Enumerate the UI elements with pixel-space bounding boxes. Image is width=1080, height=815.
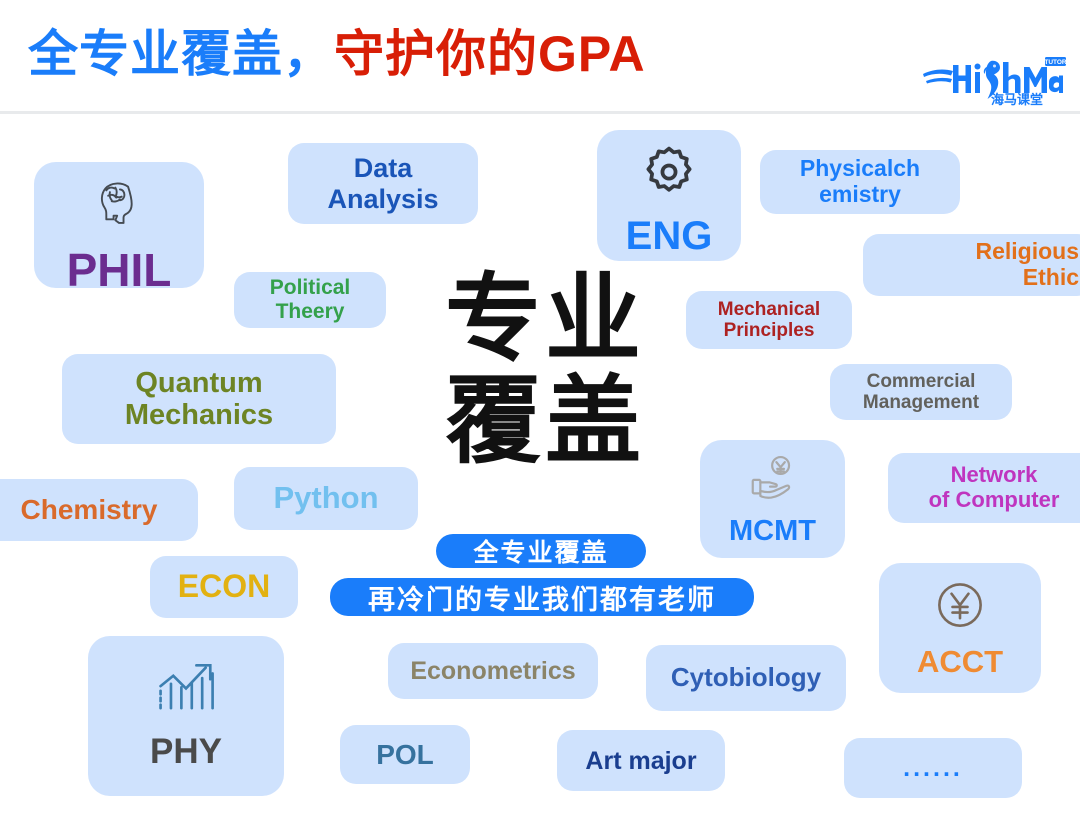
page-title: 全专业覆盖，守护你的GPA (28, 16, 646, 92)
subject-pill-label: ...... (903, 754, 963, 782)
brain-head-icon (90, 174, 148, 243)
page-title-primary: 全专业覆盖， (28, 26, 334, 82)
slide-header: 全专业覆盖，守护你的GPA (0, 0, 1080, 113)
subject-pill-phy[interactable]: PHY (88, 636, 284, 796)
subject-pill-label: POL (376, 739, 434, 770)
subject-pill-cytobiology[interactable]: Cytobiology (646, 645, 846, 711)
page-title-accent: 守护你的GPA (334, 26, 646, 82)
hand-coin-icon (746, 452, 800, 513)
subject-pill-eng[interactable]: ENG (597, 130, 741, 261)
subject-pill-label: Python (273, 481, 378, 516)
subject-pill-pol[interactable]: POL (340, 725, 470, 784)
subject-pill-religious-ethic[interactable]: Religious Ethic (863, 234, 1080, 296)
subject-pill-more[interactable]: ...... (844, 738, 1022, 798)
logo-badge-text: TUTOR (1044, 59, 1066, 66)
subject-pill-mechanical-principles[interactable]: Mechanical Principles (686, 291, 852, 349)
header-divider (0, 111, 1080, 114)
subject-pill-label: Political Theery (270, 276, 351, 323)
subject-pill-chemistry[interactable]: Chemistry (0, 479, 198, 541)
growth-chart-icon (149, 648, 223, 730)
center-headline: 专业 覆盖 (410, 268, 680, 472)
subject-pill-econometrics[interactable]: Econometrics (388, 643, 598, 699)
subject-pill-label: Data Analysis (327, 153, 438, 213)
subject-pill-political-theery[interactable]: Political Theery (234, 272, 386, 328)
subject-pill-label: Quantum Mechanics (125, 367, 273, 432)
subject-pill-label: Physicalch emistry (800, 156, 920, 208)
yen-circle-icon (930, 575, 990, 643)
subject-pill-label: Econometrics (410, 657, 575, 685)
banner-coverage: 全专业覆盖 (436, 534, 646, 568)
subject-pill-label: MCMT (729, 515, 816, 547)
subject-pill-label: ENG (626, 214, 713, 259)
subject-pill-mcmt[interactable]: MCMT (700, 440, 845, 558)
gear-icon (639, 142, 699, 212)
subject-pill-label: ACCT (917, 645, 1003, 680)
subject-pill-label: Art major (585, 747, 696, 775)
subject-pill-label: PHY (150, 732, 222, 771)
subject-pill-data-analysis[interactable]: Data Analysis (288, 143, 478, 224)
subject-pill-python[interactable]: Python (234, 467, 418, 530)
subject-pill-label: Chemistry (21, 494, 158, 525)
subject-pill-label: Network of Computer (929, 463, 1060, 512)
subject-pill-econ[interactable]: ECON (150, 556, 298, 618)
subject-pill-label: Cytobiology (671, 663, 821, 692)
subject-pill-label: PHIL (67, 245, 172, 297)
subject-pill-label: Mechanical Principles (718, 299, 820, 342)
subject-pill-label: Commercial Management (863, 371, 979, 414)
highmark-logo: TUTOR 海马课堂 (921, 52, 1066, 106)
subject-pill-label: ECON (178, 569, 270, 605)
subject-pill-art-major[interactable]: Art major (557, 730, 725, 791)
subject-pill-phil[interactable]: PHIL (34, 162, 204, 288)
banner-teachers: 再冷门的专业我们都有老师 (330, 578, 754, 616)
subject-pill-acct[interactable]: ACCT (879, 563, 1041, 693)
subject-pill-label: Religious Ethic (975, 239, 1079, 291)
logo-chinese-text: 海马课堂 (991, 92, 1043, 106)
subject-pill-network-of-computer[interactable]: Network of Computer (888, 453, 1080, 523)
subject-pill-physical-chemistry[interactable]: Physicalch emistry (760, 150, 960, 214)
subject-pill-quantum-mechanics[interactable]: Quantum Mechanics (62, 354, 336, 444)
subject-pill-commercial-management[interactable]: Commercial Management (830, 364, 1012, 420)
slide-canvas: 全专业覆盖，守护你的GPA (0, 0, 1080, 815)
